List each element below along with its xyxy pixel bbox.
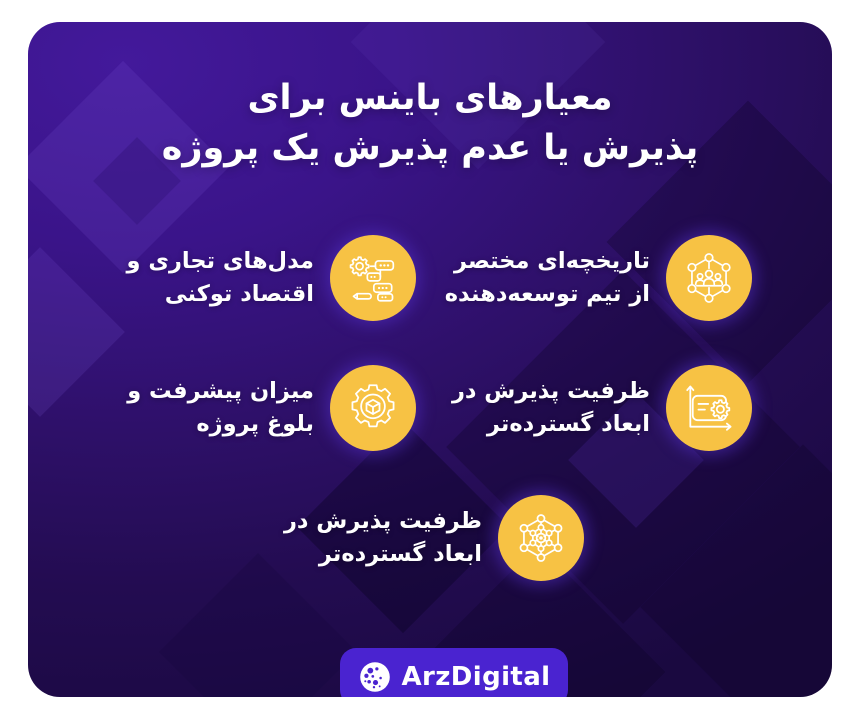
brand-name: ArzDigital (402, 662, 551, 692)
feature-text-3-line1: ظرفیت پذیرش در (452, 378, 650, 404)
feature-text-4-line2: بلوغ پروژه (96, 408, 314, 441)
feature-text-2-line2: اقتصاد توکنی (96, 278, 314, 311)
feature-item-5[interactable]: ظرفیت پذیرش در ابعاد گسترده‌تر (264, 486, 584, 590)
infographic-canvas: معیارهای باینس برای پذیرش یا عدم پذیرش ی… (0, 0, 860, 721)
feature-text-3-line2: ابعاد گسترده‌تر (432, 408, 650, 441)
gear-cube-icon (330, 365, 416, 451)
chart-gear-icon (666, 365, 752, 451)
feature-text-5-line2: ابعاد گسترده‌تر (264, 538, 482, 571)
feature-item-1[interactable]: تاریخچه‌ای مختصر از تیم توسعه‌دهنده (432, 226, 752, 330)
team-network-icon (666, 235, 752, 321)
feature-text-1: تاریخچه‌ای مختصر از تیم توسعه‌دهنده (432, 245, 666, 310)
feature-icon-wrap-3 (666, 365, 752, 451)
feature-text-1-line2: از تیم توسعه‌دهنده (432, 278, 650, 311)
title-line-2: پذیرش یا عدم پذیرش یک پروژه (28, 124, 832, 174)
brand-footer-badge[interactable]: ArzDigital (340, 648, 568, 697)
feature-item-3[interactable]: ظرفیت پذیرش در ابعاد گسترده‌تر (432, 356, 752, 460)
feature-icon-wrap-5 (498, 495, 584, 581)
feature-text-4: میزان پیشرفت و بلوغ پروژه (96, 375, 330, 440)
feature-text-5: ظرفیت پذیرش در ابعاد گسترده‌تر (264, 505, 498, 570)
feature-item-4[interactable]: میزان پیشرفت و بلوغ پروژه (96, 356, 416, 460)
feature-text-3: ظرفیت پذیرش در ابعاد گسترده‌تر (432, 375, 666, 440)
page-title: معیارهای باینس برای پذیرش یا عدم پذیرش ی… (28, 74, 832, 173)
arzdigital-circle-logo (358, 660, 392, 694)
feature-icon-wrap-1 (666, 235, 752, 321)
infographic-card: معیارهای باینس برای پذیرش یا عدم پذیرش ی… (28, 22, 832, 697)
title-line-1: معیارهای باینس برای (28, 74, 832, 124)
feature-text-2-line1: مدل‌های تجاری و (127, 248, 314, 274)
molecule-network-icon (498, 495, 584, 581)
feature-icon-wrap-2 (330, 235, 416, 321)
feature-text-5-line1: ظرفیت پذیرش در (284, 508, 482, 534)
feature-text-2: مدل‌های تجاری و اقتصاد توکنی (96, 245, 330, 310)
gear-flowchart-icon (330, 235, 416, 321)
feature-text-1-line1: تاریخچه‌ای مختصر (454, 248, 650, 274)
feature-text-4-line1: میزان پیشرفت و (127, 378, 314, 404)
feature-item-2[interactable]: مدل‌های تجاری و اقتصاد توکنی (96, 226, 416, 330)
feature-icon-wrap-4 (330, 365, 416, 451)
